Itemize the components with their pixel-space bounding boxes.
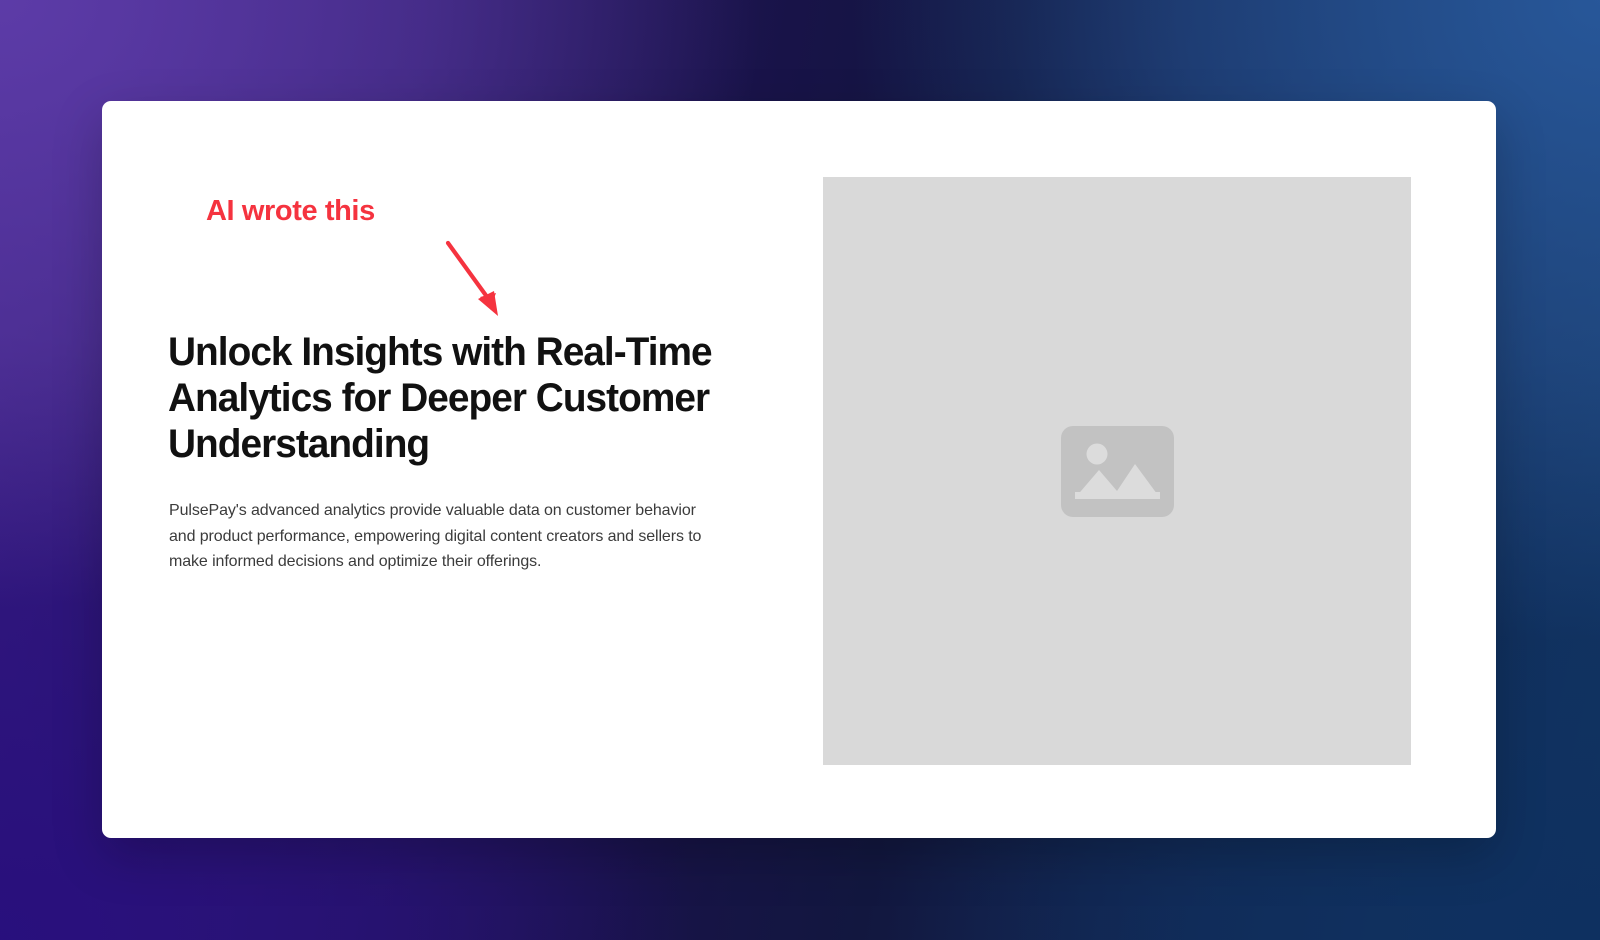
media-column (823, 177, 1411, 765)
body-paragraph: PulsePay's advanced analytics provide va… (169, 498, 721, 575)
arrow-down-right-icon (440, 237, 510, 323)
image-placeholder (823, 177, 1411, 765)
text-column: AI wrote this Unlock Insights with Real-… (168, 101, 788, 838)
image-placeholder-icon (1061, 426, 1174, 517)
annotation-group: AI wrote this (206, 197, 506, 243)
content-card: AI wrote this Unlock Insights with Real-… (102, 101, 1496, 838)
annotation-label: AI wrote this (206, 197, 506, 226)
page-background: AI wrote this Unlock Insights with Real-… (0, 0, 1600, 940)
page-title: Unlock Insights with Real-Time Analytics… (168, 329, 726, 467)
card-inner: AI wrote this Unlock Insights with Real-… (102, 101, 1496, 838)
